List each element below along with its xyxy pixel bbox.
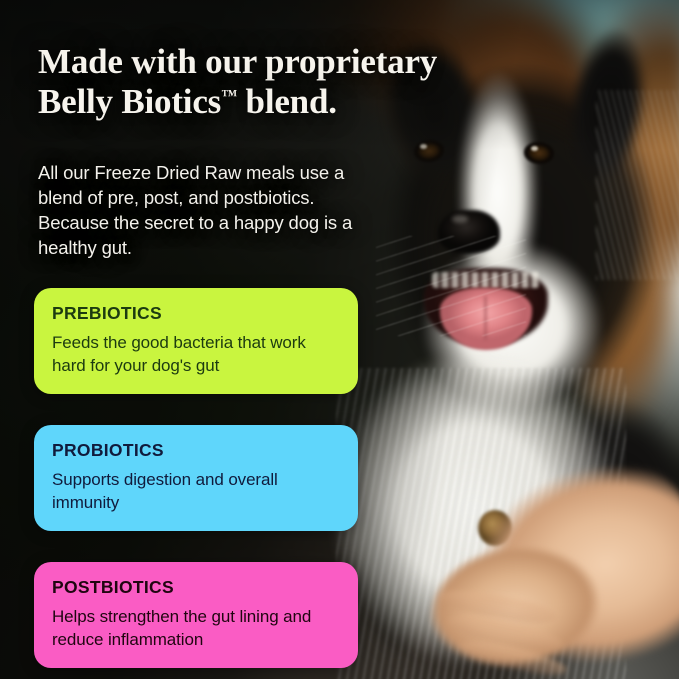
- benefit-card-description: Feeds the good bacteria that work hard f…: [52, 331, 340, 377]
- promo-card: Made with our proprietary Belly Biotics™…: [0, 0, 679, 679]
- body-paragraph: All our Freeze Dried Raw meals use a ble…: [38, 160, 356, 260]
- trademark-symbol: ™: [221, 87, 237, 104]
- headline-line-2-suffix: blend.: [237, 82, 337, 121]
- benefit-card-prebiotics: PREBIOTICS Feeds the good bacteria that …: [34, 288, 358, 394]
- benefit-card-title: PREBIOTICS: [52, 303, 340, 324]
- benefit-card-title: PROBIOTICS: [52, 440, 340, 461]
- benefit-card-description: Helps strengthen the gut lining and redu…: [52, 605, 340, 651]
- benefit-card-description: Supports digestion and overall immunity: [52, 468, 340, 514]
- benefit-card-title: POSTBIOTICS: [52, 577, 340, 598]
- headline-brand: Belly Biotics: [38, 82, 221, 121]
- benefit-card-postbiotics: POSTBIOTICS Helps strengthen the gut lin…: [34, 562, 358, 668]
- content-layer: Made with our proprietary Belly Biotics™…: [0, 0, 679, 679]
- headline-line-1: Made with our proprietary: [38, 42, 437, 81]
- benefit-card-probiotics: PROBIOTICS Supports digestion and overal…: [34, 425, 358, 531]
- page-title: Made with our proprietary Belly Biotics™…: [38, 42, 468, 122]
- benefit-cards-list: PREBIOTICS Feeds the good bacteria that …: [34, 288, 358, 668]
